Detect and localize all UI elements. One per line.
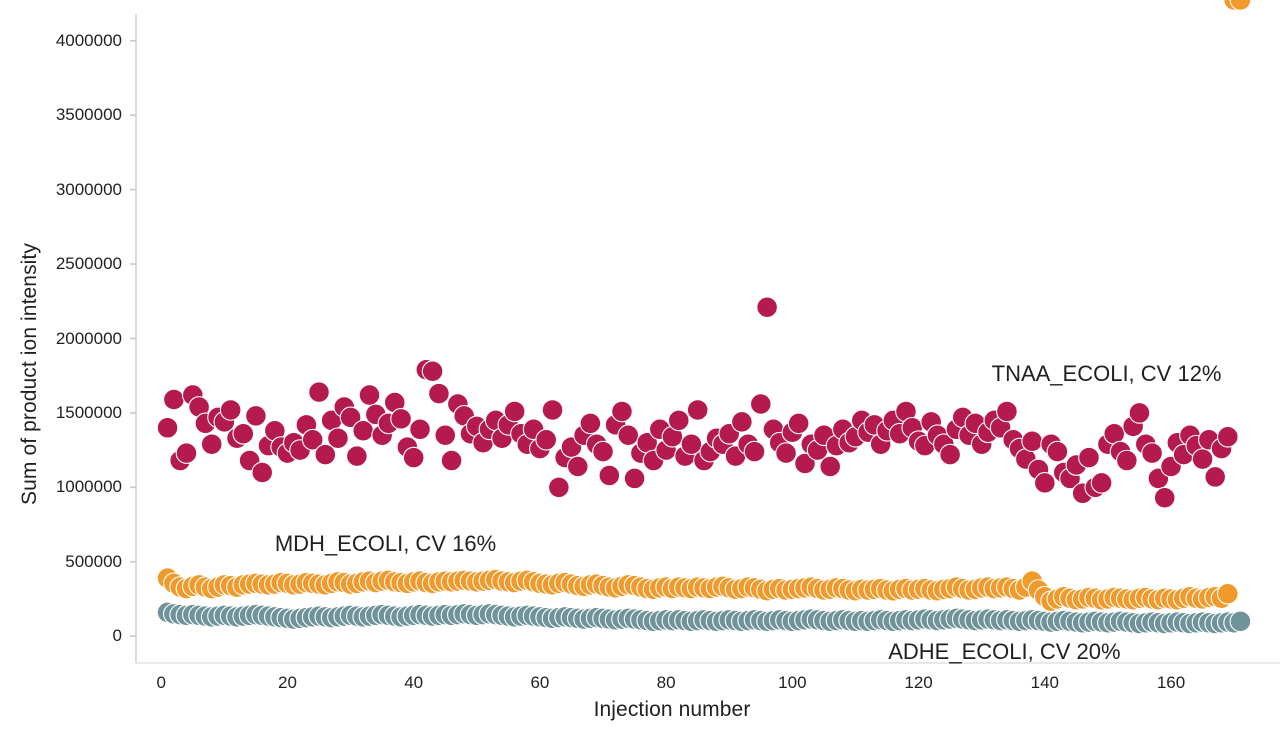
data-point <box>410 419 431 440</box>
data-point <box>1218 583 1239 604</box>
tick-marks <box>130 41 136 636</box>
data-point <box>687 400 708 421</box>
data-point <box>233 423 254 444</box>
data-point <box>1022 431 1043 452</box>
data-point <box>567 456 588 477</box>
y-tick-label: 3000000 <box>0 180 122 200</box>
data-point <box>820 456 841 477</box>
y-tick-label: 0 <box>0 626 122 646</box>
scatter-chart: Sum of product ion intensity Injection n… <box>0 0 1280 748</box>
data-point <box>157 418 178 439</box>
x-tick-label: 60 <box>530 673 549 693</box>
x-tick-label: 120 <box>904 673 932 693</box>
data-point <box>1142 443 1163 464</box>
x-tick-label: 20 <box>278 673 297 693</box>
data-point <box>1091 473 1112 494</box>
data-point <box>940 444 961 465</box>
data-point <box>1079 447 1100 468</box>
data-point <box>618 425 639 446</box>
data-point <box>164 389 185 410</box>
data-point <box>1230 611 1251 632</box>
series-annotation-tnaa_ecoli: TNAA_ECOLI, CV 12% <box>992 361 1222 387</box>
data-point <box>593 441 614 462</box>
x-tick-label: 0 <box>157 673 166 693</box>
data-point <box>776 443 797 464</box>
data-point <box>580 413 601 434</box>
data-point <box>1047 441 1068 462</box>
y-tick-label: 500000 <box>0 552 122 572</box>
data-point <box>757 297 778 318</box>
data-point <box>788 413 809 434</box>
x-tick-label: 140 <box>1031 673 1059 693</box>
series-tnaa_ecoli <box>157 0 1250 508</box>
y-tick-label: 3500000 <box>0 105 122 125</box>
axes-group <box>136 14 1280 663</box>
data-point <box>422 361 443 382</box>
data-point <box>1117 450 1138 471</box>
data-point <box>542 400 563 421</box>
x-axis-title: Injection number <box>594 698 751 722</box>
data-point <box>246 406 267 427</box>
data-point <box>252 462 273 483</box>
x-tick-label: 40 <box>404 673 423 693</box>
data-point <box>1154 487 1175 508</box>
series-annotation-adhe_ecoli: ADHE_ECOLI, CV 20% <box>888 639 1120 665</box>
y-tick-label: 2500000 <box>0 254 122 274</box>
data-point <box>668 410 689 431</box>
x-tick-label: 80 <box>657 673 676 693</box>
data-point <box>624 468 645 489</box>
data-point <box>612 401 633 422</box>
data-point <box>328 428 349 449</box>
data-point <box>1192 449 1213 470</box>
data-point <box>220 400 241 421</box>
data-point <box>751 394 772 415</box>
data-point <box>347 446 368 467</box>
data-point <box>1129 403 1150 424</box>
y-tick-label: 4000000 <box>0 31 122 51</box>
data-point <box>391 409 412 430</box>
data-point <box>599 465 620 486</box>
data-point <box>429 383 450 404</box>
data-point <box>997 401 1018 422</box>
data-point <box>441 450 462 471</box>
data-point <box>504 401 525 422</box>
data-point <box>744 441 765 462</box>
data-point <box>201 434 222 455</box>
data-point <box>549 477 570 498</box>
data-point <box>359 385 380 406</box>
x-tick-label: 160 <box>1157 673 1185 693</box>
data-point <box>403 447 424 468</box>
y-tick-label: 1000000 <box>0 477 122 497</box>
data-point <box>435 425 456 446</box>
data-point <box>536 429 557 450</box>
x-tick-label: 100 <box>778 673 806 693</box>
data-point <box>1218 426 1239 447</box>
y-tick-label: 1500000 <box>0 403 122 423</box>
data-point <box>309 382 330 403</box>
data-point <box>176 443 197 464</box>
data-point <box>732 412 753 433</box>
series-annotation-mdh_ecoli: MDH_ECOLI, CV 16% <box>275 531 496 557</box>
data-point <box>1035 473 1056 494</box>
y-tick-label: 2000000 <box>0 329 122 349</box>
data-point <box>1205 467 1226 488</box>
series-mdh_ecoli <box>157 0 1250 612</box>
